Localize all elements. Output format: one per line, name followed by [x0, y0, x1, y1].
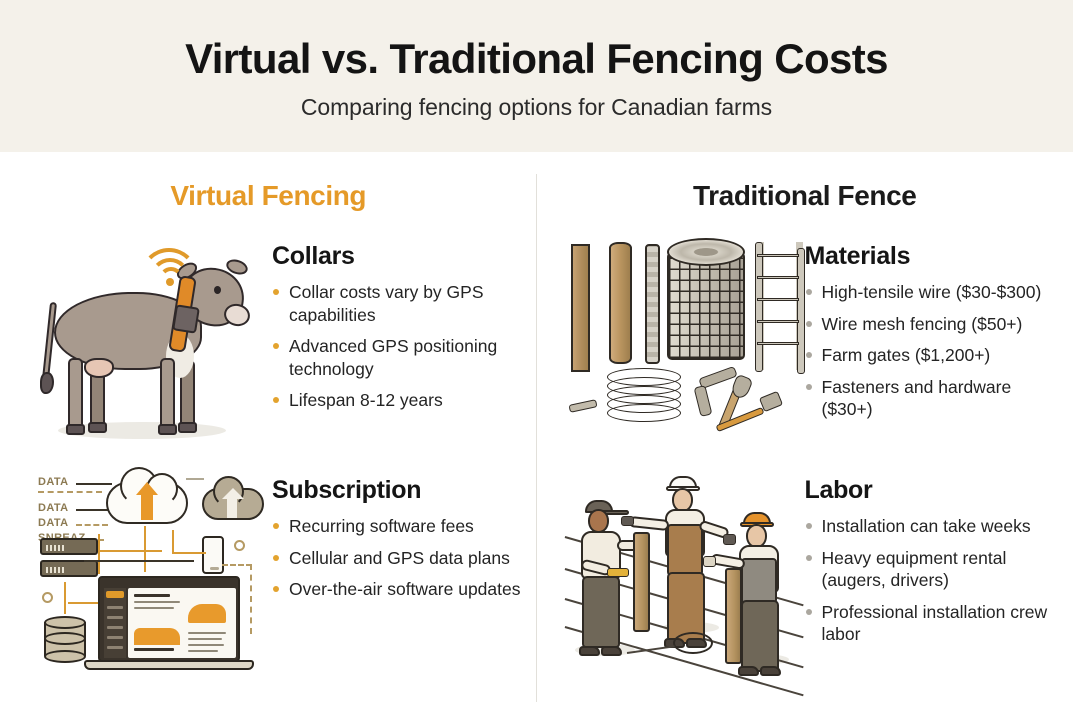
wire-mesh-roll	[667, 252, 745, 360]
barbed-wire-coil	[607, 368, 681, 424]
wire-coil-on-ground	[673, 632, 713, 654]
materials-bullet-list: High-tensile wire ($30-$300) Wire mesh f…	[805, 281, 1062, 421]
data-arrow-1	[76, 483, 112, 485]
list-item: Installation can take weeks	[805, 515, 1062, 538]
worker-legs	[582, 576, 620, 648]
farm-gate-frame	[757, 242, 803, 370]
connector-arrow-vertical-a	[98, 534, 100, 574]
page-subtitle: Comparing fencing options for Canadian f…	[301, 94, 772, 121]
fence-post-left	[633, 532, 650, 632]
cow-tail-tuft	[40, 372, 54, 394]
gate-rail	[757, 276, 799, 279]
dashboard-cloud-graphic	[188, 604, 226, 623]
dashboard-sidebar-item	[107, 636, 123, 639]
dashboard-sidebar-item	[107, 616, 123, 619]
smartphone-icon	[202, 536, 224, 574]
dashboard-text-line	[188, 638, 222, 640]
collars-text: Collars Collar costs vary by GPS capabil…	[272, 230, 524, 421]
dashboard-area-chart	[134, 628, 180, 645]
page-title: Virtual vs. Traditional Fencing Costs	[185, 36, 888, 82]
laptop-base	[84, 660, 254, 670]
connector-dashed-right	[222, 564, 252, 566]
column-title-traditional: Traditional Fence	[537, 180, 1073, 212]
connector-node-right	[234, 540, 245, 551]
wire-mesh-roll-top	[667, 238, 745, 266]
list-item: Heavy equipment rental (augers, drivers)	[805, 547, 1062, 592]
data-underline-dashed	[38, 491, 102, 493]
connector-arrow-branch	[68, 602, 98, 604]
labor-bullet-list: Installation can take weeks Heavy equipm…	[805, 515, 1062, 646]
gate-stile-right	[797, 248, 805, 374]
connector-arrow-vertical-b	[144, 526, 146, 572]
worker-boot	[760, 666, 781, 676]
data-flow-label: DATA	[38, 502, 69, 514]
dashboard-text-line	[134, 607, 174, 609]
database-layer-bottom	[44, 650, 86, 663]
dashboard-sidebar	[104, 588, 126, 658]
infographic-page: Virtual vs. Traditional Fencing Costs Co…	[0, 0, 1073, 720]
connector-dashed-down	[250, 564, 252, 634]
database-layer-middle	[44, 632, 86, 645]
list-item: Wire mesh fencing ($50+)	[805, 313, 1062, 336]
cloud-data-dashboard-illustration: DATA DATA DATA SNREAZ	[24, 464, 272, 669]
tool-handle	[693, 385, 712, 417]
section-materials: Materials High-tensile wire ($30-$300) W…	[557, 230, 1062, 435]
gate-rail	[757, 320, 799, 323]
connector-arrow-to-phone	[172, 552, 206, 554]
dashboard-text-line	[188, 632, 226, 634]
worker-glove	[703, 556, 716, 567]
dashboard-text-line	[134, 601, 180, 603]
list-item: Farm gates ($1,200+)	[805, 344, 1062, 367]
worker-head	[588, 509, 609, 533]
data-flow-label: DATA	[38, 517, 69, 529]
connector-arrow-vertical-c	[172, 530, 174, 554]
server-rack-bottom	[40, 560, 98, 577]
gate-rail	[757, 298, 799, 301]
dashboard-sidebar-item	[107, 626, 123, 629]
worker-boot	[601, 646, 622, 656]
worker-glove-right	[723, 534, 736, 545]
list-item: Collar costs vary by GPS capabilities	[272, 281, 524, 326]
cow-with-gps-collar-illustration	[24, 230, 272, 435]
dashboard-content	[128, 588, 236, 658]
comparison-columns: Virtual Fencing	[0, 152, 1073, 720]
cow-udder	[84, 358, 114, 378]
gate-stile-left	[755, 242, 763, 372]
cow-tail	[42, 302, 57, 380]
list-item: Recurring software fees	[272, 515, 524, 538]
worker-boot	[738, 666, 759, 676]
fence-installation-crew-illustration	[557, 464, 805, 669]
section-collars: Collars Collar costs vary by GPS capabil…	[24, 230, 524, 435]
list-item: Professional installation crew labor	[805, 601, 1062, 646]
list-item: Fasteners and hardware ($30+)	[805, 376, 1062, 421]
connector-node-refresh	[42, 592, 53, 603]
pulse-line-icon	[186, 478, 204, 480]
list-item: Advanced GPS positioning technology	[272, 335, 524, 380]
connector-arrow-horizontal-b	[84, 560, 194, 562]
worker-arm-left	[628, 516, 669, 531]
materials-text: Materials High-tensile wire ($30-$300) W…	[805, 230, 1062, 430]
cow-hoof-back-far	[88, 422, 107, 433]
list-item: High-tensile wire ($30-$300)	[805, 281, 1062, 304]
fence-post-right	[725, 568, 742, 664]
list-item: Over-the-air software updates	[272, 578, 524, 601]
list-item: Lifespan 8-12 years	[272, 389, 524, 412]
data-arrow-3-dashed	[76, 524, 108, 526]
worker-glove-left	[621, 516, 634, 526]
cow-leg-back-near	[68, 358, 83, 430]
server-rack-top	[40, 538, 98, 555]
subscription-text: Subscription Recurring software fees Cel…	[272, 464, 524, 610]
data-arrow-2	[76, 509, 110, 511]
cloud-upload-arrow-stem	[141, 494, 153, 520]
worker-overalls	[741, 558, 777, 604]
worker-overalls	[667, 524, 703, 576]
dashboard-sidebar-item	[107, 646, 123, 649]
cow-leg-front-near	[160, 358, 175, 430]
dashboard-text-line	[188, 650, 218, 652]
gate-rail	[757, 342, 799, 345]
dashboard-text-line	[134, 648, 174, 651]
data-flow-label: DATA	[38, 476, 69, 488]
column-traditional-fence: Traditional Fence	[537, 152, 1073, 720]
column-virtual-fencing: Virtual Fencing	[0, 152, 537, 720]
fastener-bolt	[568, 399, 597, 413]
dashboard-sidebar-item	[107, 606, 123, 609]
cow-hoof-back-near	[66, 424, 85, 435]
header-band: Virtual vs. Traditional Fencing Costs Co…	[0, 0, 1073, 152]
dashboard-text-line	[188, 644, 224, 646]
section-labor: Labor Installation can take weeks Heavy …	[557, 464, 1062, 669]
worker-legs	[741, 600, 779, 672]
cow-hoof-front-far	[178, 422, 197, 433]
cow-eye	[214, 286, 221, 294]
connector-arrow-to-database	[64, 582, 66, 614]
labor-text: Labor Installation can take weeks Heavy …	[805, 464, 1062, 655]
section-heading-subscription: Subscription	[272, 476, 524, 505]
cow-hoof-front-near	[158, 424, 177, 435]
cloud-secondary-arrow-stem	[227, 498, 237, 518]
wooden-post-round	[609, 242, 632, 364]
dashboard-text-line	[134, 594, 170, 597]
gps-collar-device	[172, 304, 200, 333]
barbed-wire-ring	[607, 404, 681, 422]
collars-bullet-list: Collar costs vary by GPS capabilities Ad…	[272, 281, 524, 412]
server-led-dots	[46, 567, 66, 573]
section-subscription: DATA DATA DATA SNREAZ	[24, 464, 524, 669]
server-led-dots	[46, 545, 66, 551]
metal-t-post	[645, 244, 660, 364]
worker-boot	[579, 646, 600, 656]
connector-arrow-horizontal-a	[100, 550, 162, 552]
list-item: Cellular and GPS data plans	[272, 547, 524, 570]
fence-materials-illustration	[557, 230, 805, 435]
subscription-bullet-list: Recurring software fees Cellular and GPS…	[272, 515, 524, 601]
section-heading-labor: Labor	[805, 476, 1062, 505]
laptop-screen	[98, 576, 240, 662]
database-layer-top	[44, 616, 86, 629]
wooden-post-square	[571, 244, 590, 372]
section-heading-materials: Materials	[805, 242, 1062, 271]
section-heading-collars: Collars	[272, 242, 524, 271]
dashboard-sidebar-active-item	[106, 591, 124, 598]
gate-rail	[757, 254, 799, 257]
wifi-signal-dot	[166, 278, 174, 286]
column-title-virtual: Virtual Fencing	[0, 180, 537, 212]
